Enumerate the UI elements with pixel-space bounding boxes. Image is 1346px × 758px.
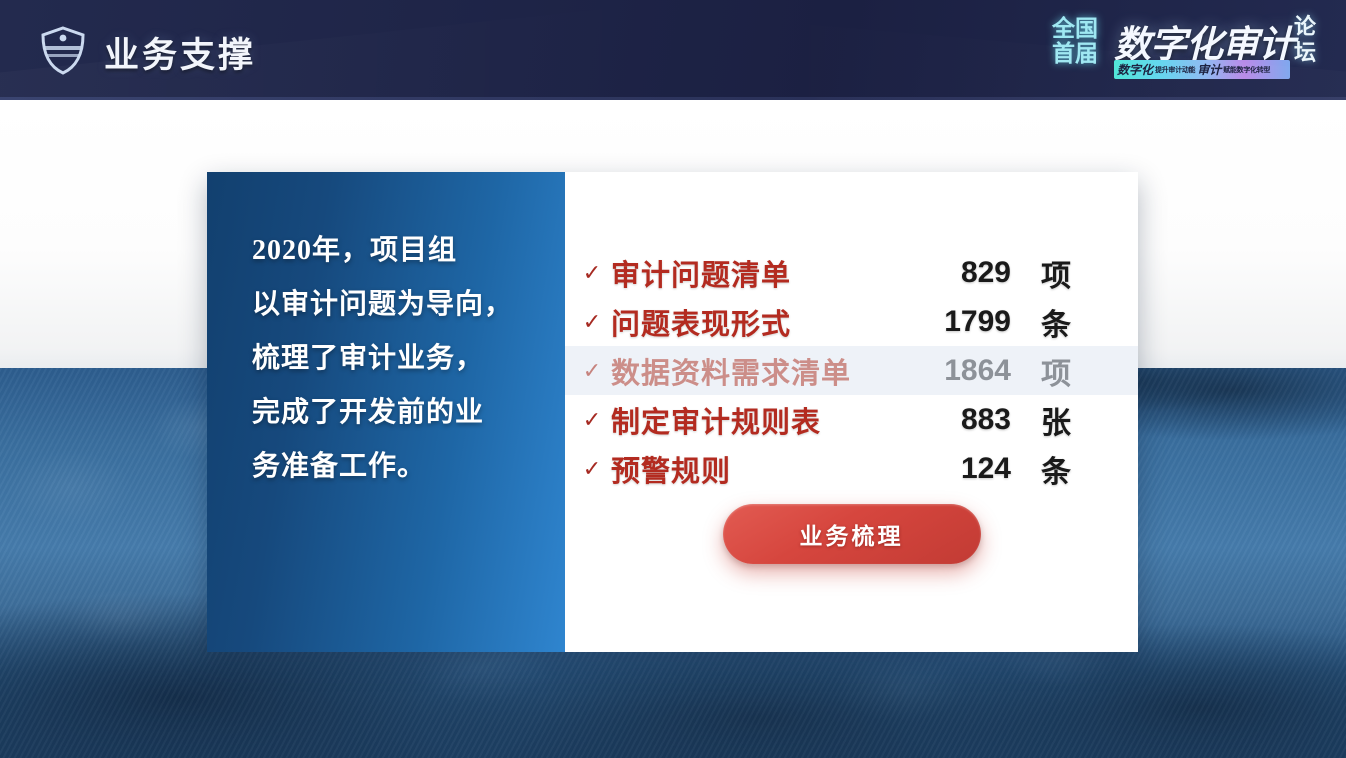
stats-row[interactable]: ✓制定审计规则表883张 bbox=[565, 395, 1138, 444]
stats-row-number: 883 bbox=[895, 403, 1011, 437]
logo-bar-part2: 审计 bbox=[1197, 61, 1221, 78]
check-icon: ✓ bbox=[565, 456, 611, 482]
forum-logo: 全国 首届 数字化审计 论 坛 数字化 提升审计动能 审计 赋能数字化转型 bbox=[1032, 14, 1324, 90]
stats-row-unit: 条 bbox=[1011, 447, 1101, 491]
description-line: 梳理了审计业务， bbox=[252, 332, 542, 386]
logo-bar-part1-sub: 提升审计动能 bbox=[1155, 65, 1195, 75]
check-icon: ✓ bbox=[565, 260, 611, 286]
logo-left-line1: 全国 bbox=[1052, 16, 1110, 41]
stats-row-unit: 张 bbox=[1011, 398, 1101, 442]
stats-row-label: 制定审计规则表 bbox=[611, 399, 895, 441]
description-line: 2020年，项目组 bbox=[252, 224, 542, 278]
description-line: 完成了开发前的业 bbox=[252, 386, 542, 440]
stats-row[interactable]: ✓问题表现形式1799条 bbox=[565, 297, 1138, 346]
stats-row[interactable]: ✓数据资料需求清单1864项 bbox=[565, 346, 1138, 395]
stats-row-label: 数据资料需求清单 bbox=[611, 350, 895, 392]
description-text: 2020年，项目组以审计问题为导向，梳理了审计业务，完成了开发前的业务准备工作。 bbox=[252, 224, 542, 494]
button-area: 业务梳理 bbox=[565, 504, 1138, 564]
logo-left-text: 全国 首届 bbox=[1052, 16, 1110, 66]
business-review-button[interactable]: 业务梳理 bbox=[723, 504, 981, 564]
shield-icon bbox=[38, 24, 88, 76]
stats-list: ✓审计问题清单829项✓问题表现形式1799条✓数据资料需求清单1864项✓制定… bbox=[565, 248, 1138, 493]
description-line: 务准备工作。 bbox=[252, 440, 542, 494]
logo-right-text: 论 坛 bbox=[1294, 14, 1324, 66]
stats-row-number: 1799 bbox=[895, 305, 1011, 339]
stats-row[interactable]: ✓预警规则124条 bbox=[565, 444, 1138, 493]
slide-root: 业务支撑 全国 首届 数字化审计 论 坛 数字化 提升审计动能 审计 赋能数字化… bbox=[0, 0, 1346, 758]
logo-subtitle-bar: 数字化 提升审计动能 审计 赋能数字化转型 bbox=[1114, 60, 1290, 79]
stats-row-unit: 项 bbox=[1011, 349, 1101, 393]
logo-right-line1: 论 bbox=[1294, 14, 1324, 40]
page-header: 业务支撑 全国 首届 数字化审计 论 坛 数字化 提升审计动能 审计 赋能数字化… bbox=[0, 0, 1346, 100]
stats-row[interactable]: ✓审计问题清单829项 bbox=[565, 248, 1138, 297]
logo-left-line2: 首届 bbox=[1052, 41, 1110, 66]
stats-row-unit: 条 bbox=[1011, 300, 1101, 344]
stats-row-number: 1864 bbox=[895, 354, 1011, 388]
page-title: 业务支撑 bbox=[104, 27, 256, 78]
check-icon: ✓ bbox=[565, 358, 611, 384]
check-icon: ✓ bbox=[565, 407, 611, 433]
stats-content: ✓审计问题清单829项✓问题表现形式1799条✓数据资料需求清单1864项✓制定… bbox=[565, 172, 1138, 652]
stats-row-label: 预警规则 bbox=[611, 448, 895, 490]
description-panel: 2020年，项目组以审计问题为导向，梳理了审计业务，完成了开发前的业务准备工作。 bbox=[207, 172, 565, 652]
header-bottom-strip bbox=[0, 97, 1346, 100]
stats-row-label: 问题表现形式 bbox=[611, 301, 895, 343]
stats-row-unit: 项 bbox=[1011, 251, 1101, 295]
content-card: 2020年，项目组以审计问题为导向，梳理了审计业务，完成了开发前的业务准备工作。… bbox=[207, 172, 1138, 652]
check-icon: ✓ bbox=[565, 309, 611, 335]
stats-row-number: 829 bbox=[895, 256, 1011, 290]
logo-bar-part2-sub: 赋能数字化转型 bbox=[1223, 65, 1270, 75]
logo-bar-part1: 数字化 bbox=[1117, 61, 1153, 78]
stats-row-number: 124 bbox=[895, 452, 1011, 486]
stats-row-label: 审计问题清单 bbox=[611, 252, 895, 294]
description-line: 以审计问题为导向， bbox=[252, 278, 542, 332]
logo-right-line2: 坛 bbox=[1294, 40, 1324, 66]
